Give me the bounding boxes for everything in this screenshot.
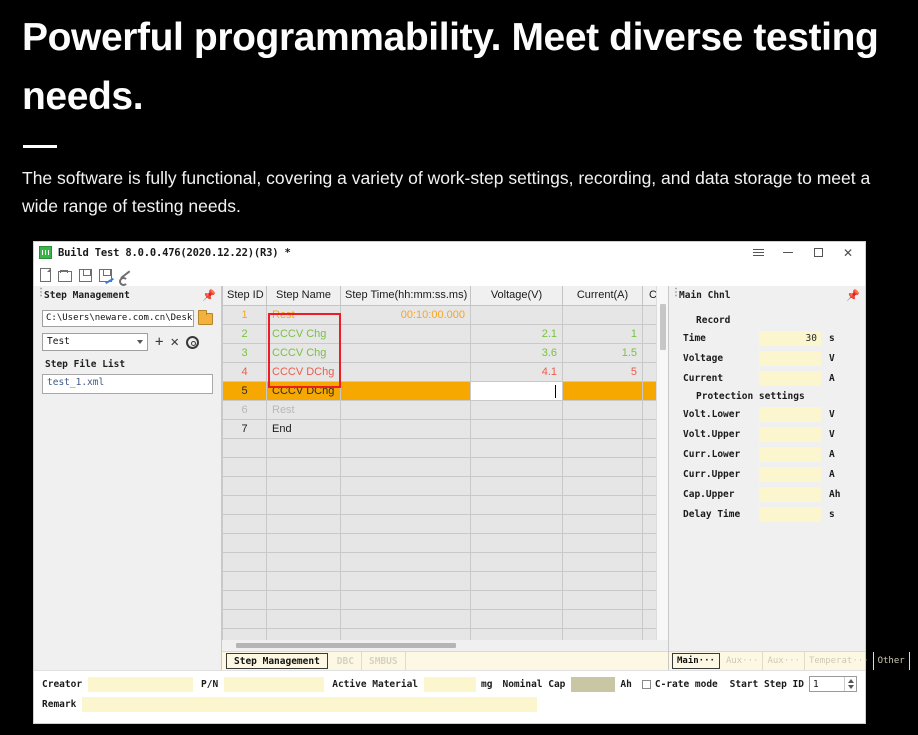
cell-current[interactable] [563,305,643,324]
left-panel-header: Step Management 📌 [34,286,221,304]
step-file-list-label: Step File List [45,359,213,370]
profile-row: Test + ✕ [42,333,213,351]
start-step-group: Start Step ID 1 [730,676,857,692]
field-unit-delay-time: s [821,509,841,520]
right-panel-title: Main Chnl [679,290,730,301]
scrollbar-thumb[interactable] [236,643,456,648]
left-panel-body: C:\Users\neware.com.cn\Desktop\ Test + ✕… [34,304,221,670]
cell-empty[interactable] [223,590,267,609]
remove-profile-button[interactable]: ✕ [170,335,178,349]
table-row[interactable]: 3CCCV Chg3.61.5 [223,343,657,362]
cell-empty[interactable] [643,590,657,609]
field-input-time[interactable]: 30 [759,331,821,346]
cell-current[interactable]: 1.5 [563,343,643,362]
table-row-empty[interactable] [223,476,657,495]
cell-empty[interactable] [223,628,267,640]
table-row[interactable]: 7End [223,419,657,438]
cell-empty[interactable] [341,590,471,609]
cell-empty[interactable] [563,457,643,476]
hero-section: Powerful programmability. Meet diverse t… [0,0,918,220]
cell-empty[interactable] [341,495,471,514]
cell-empty[interactable] [471,628,563,640]
cell-empty[interactable] [223,571,267,590]
cell-step-name[interactable]: Rest [267,305,341,324]
profile-select[interactable]: Test [42,333,148,351]
open-folder-icon[interactable] [58,271,72,282]
cell-cut[interactable] [643,400,657,419]
cell-step-name[interactable]: Rest [267,400,341,419]
cell-empty[interactable] [341,552,471,571]
cell-empty[interactable] [267,438,341,457]
pn-field[interactable] [224,677,324,692]
cell-empty[interactable] [563,571,643,590]
cell-step-time[interactable] [341,400,471,419]
cell-step-id[interactable]: 7 [223,419,267,438]
field-unit-voltage: V [821,353,841,364]
table-row-empty[interactable] [223,438,657,457]
column-header-step-time[interactable]: Step Time(hh:mm:ss.ms) [341,286,471,305]
active-material-label: Active Material [332,679,418,690]
cell-empty[interactable] [223,514,267,533]
pin-icon[interactable]: 📌 [202,289,216,302]
cell-step-id[interactable]: 5 [223,381,267,400]
tab-smbus[interactable]: SMBUS [362,652,406,670]
cell-empty[interactable] [563,533,643,552]
tab-channel-0[interactable]: Main··· [672,653,720,669]
cell-cut[interactable] [643,324,657,343]
cell-empty[interactable] [471,495,563,514]
cell-step-name[interactable]: CCCV Chg [267,324,341,343]
cell-empty[interactable] [223,552,267,571]
cell-empty[interactable] [223,457,267,476]
cell-empty[interactable] [341,628,471,640]
cell-cut[interactable] [643,419,657,438]
crate-mode-label: C-rate mode [655,679,718,690]
cell-step-time[interactable] [341,381,471,400]
cell-empty[interactable] [563,590,643,609]
cell-empty[interactable] [341,457,471,476]
cell-empty[interactable] [643,495,657,514]
cell-empty[interactable] [471,476,563,495]
table-row-empty[interactable] [223,533,657,552]
table-row-empty[interactable] [223,609,657,628]
cell-cut[interactable] [643,381,657,400]
cell-empty[interactable] [267,457,341,476]
chevron-up-icon[interactable] [848,679,854,683]
table-row-empty[interactable] [223,514,657,533]
field-label-voltage: Voltage [683,353,759,364]
field-input-cap-upper[interactable] [759,487,821,502]
table-row[interactable]: 5CCCV DChg [223,381,657,400]
field-input-current[interactable] [759,371,821,386]
field-label-volt-lower: Volt.Lower [683,409,759,420]
cell-empty[interactable] [643,552,657,571]
menu-icon[interactable] [743,243,773,263]
cell-empty[interactable] [267,533,341,552]
cell-step-time[interactable] [341,324,471,343]
cell-voltage[interactable]: 3.6 [471,343,563,362]
cell-empty[interactable] [341,533,471,552]
cell-voltage[interactable] [471,305,563,324]
checkbox-box[interactable] [642,680,651,689]
cell-empty[interactable] [471,552,563,571]
table-row-empty[interactable] [223,628,657,640]
new-file-icon[interactable] [40,268,51,282]
field-row: VoltageV [683,351,857,366]
field-row: Cap.UpperAh [683,487,857,502]
center-tab-bar: Step ManagementDBCSMBUS [222,651,668,670]
field-label-time: Time [683,333,759,344]
tab-channel-2[interactable]: Aux··· [763,652,805,670]
pn-label: P/N [201,679,218,690]
field-unit-time: s [821,333,841,344]
cell-empty[interactable] [471,571,563,590]
cell-step-id[interactable]: 1 [223,305,267,324]
path-row: C:\Users\neware.com.cn\Desktop\ [42,310,213,327]
step-grid[interactable]: Step ID Step Name Step Time(hh:mm:ss.ms)… [222,286,656,640]
step-file-list[interactable]: test_1.xml [42,374,213,394]
field-input-volt-lower[interactable] [759,407,821,422]
stepper-arrows[interactable] [844,677,856,691]
save-as-icon[interactable] [99,269,112,282]
field-unit-current: A [821,373,841,384]
cell-current[interactable] [563,400,643,419]
column-header-cut[interactable]: Cut [643,286,657,305]
cell-current[interactable] [563,419,643,438]
toolbar [34,264,865,286]
creator-label: Creator [42,679,82,690]
title-bar: Build Test 8.0.0.476(2020.12.22)(R3) * ✕ [34,242,865,264]
nominal-cap-label: Nominal Cap [502,679,565,690]
right-panel-header: Main Chnl 📌 [669,286,865,304]
cell-empty[interactable] [223,533,267,552]
column-header-step-name[interactable]: Step Name [267,286,341,305]
crate-mode-checkbox[interactable]: C-rate mode [642,679,718,690]
group-label-protection-settings: Protection settings [696,391,857,402]
table-row[interactable]: 1Rest00:10:00.000 [223,305,657,324]
footer-row-2: Remark [42,697,857,712]
cell-empty[interactable] [471,438,563,457]
active-material-field[interactable] [424,677,476,692]
cell-empty[interactable] [643,514,657,533]
tools-wrench-icon[interactable] [119,268,133,282]
start-step-stepper[interactable]: 1 [809,676,857,692]
cell-empty[interactable] [267,495,341,514]
field-row: Time30s [683,331,857,346]
maximize-icon[interactable] [803,243,833,263]
cell-empty[interactable] [563,552,643,571]
cell-empty[interactable] [643,533,657,552]
field-label-delay-time: Delay Time [683,509,759,520]
cell-step-time[interactable] [341,419,471,438]
table-wrapper: Step ID Step Name Step Time(hh:mm:ss.ms)… [222,286,668,640]
footer-row-1: Creator P/N Active Material mg Nominal C… [42,676,857,692]
cell-voltage[interactable] [471,400,563,419]
field-unit-curr-lower: A [821,449,841,460]
table-row[interactable]: 4CCCV DChg4.15 [223,362,657,381]
steps-table-body: 1Rest00:10:00.0002CCCV Chg2.113CCCV Chg3… [223,305,657,640]
cell-empty[interactable] [643,457,657,476]
cell-current[interactable]: 5 [563,362,643,381]
cell-empty[interactable] [341,514,471,533]
cell-step-time[interactable]: 00:10:00.000 [341,305,471,324]
grid-horizontal-scrollbar[interactable] [222,640,668,651]
cell-cut[interactable] [643,305,657,324]
tab-step-management[interactable]: Step Management [226,653,328,669]
cell-empty[interactable] [223,438,267,457]
remark-field[interactable] [82,697,537,712]
cell-empty[interactable] [563,438,643,457]
steps-table: Step ID Step Name Step Time(hh:mm:ss.ms)… [222,286,656,640]
table-header-row: Step ID Step Name Step Time(hh:mm:ss.ms)… [223,286,657,305]
cell-empty[interactable] [267,552,341,571]
field-label-curr-lower: Curr.Lower [683,449,759,460]
cell-empty[interactable] [267,476,341,495]
cell-empty[interactable] [471,457,563,476]
chevron-down-icon [137,340,143,344]
cell-empty[interactable] [267,571,341,590]
field-row: CurrentA [683,371,857,386]
tab-channel-1[interactable]: Aux··· [722,652,764,670]
application-window: Build Test 8.0.0.476(2020.12.22)(R3) * ✕… [33,241,866,724]
cell-step-id[interactable]: 2 [223,324,267,343]
left-panel-title: Step Management [44,290,130,301]
cell-empty[interactable] [643,476,657,495]
window-body: Step Management 📌 C:\Users\neware.com.cn… [34,286,865,670]
cell-empty[interactable] [267,514,341,533]
table-row-empty[interactable] [223,571,657,590]
footer-bar: Creator P/N Active Material mg Nominal C… [34,670,865,723]
field-row: Volt.UpperV [683,427,857,442]
step-table-area: Step ID Step Name Step Time(hh:mm:ss.ms)… [222,286,669,670]
column-header-step-id[interactable]: Step ID [223,286,267,305]
cell-voltage[interactable] [471,381,563,400]
cell-voltage[interactable]: 4.1 [471,362,563,381]
tab-channel-4[interactable]: Other [874,652,910,670]
cell-step-name[interactable]: CCCV Chg [267,343,341,362]
pin-icon[interactable]: 📌 [846,289,860,302]
field-input-voltage[interactable] [759,351,821,366]
cell-step-name[interactable]: CCCV DChg [267,362,341,381]
field-input-volt-upper[interactable] [759,427,821,442]
folder-open-icon[interactable] [198,313,213,325]
cell-empty[interactable] [223,609,267,628]
field-unit-volt-lower: V [821,409,841,420]
path-input[interactable]: C:\Users\neware.com.cn\Desktop\ [42,310,194,327]
start-step-label: Start Step ID [730,679,804,690]
cell-empty[interactable] [267,628,341,640]
field-input-curr-lower[interactable] [759,447,821,462]
field-input-curr-upper[interactable] [759,467,821,482]
cell-empty[interactable] [341,438,471,457]
field-label-curr-upper: Curr.Upper [683,469,759,480]
tab-channel-3[interactable]: Temperat··· [805,652,874,670]
cell-empty[interactable] [563,609,643,628]
field-label-cap-upper: Cap.Upper [683,489,759,500]
creator-field[interactable] [88,677,193,692]
cell-empty[interactable] [643,609,657,628]
cell-step-id[interactable]: 4 [223,362,267,381]
field-unit-cap-upper: Ah [821,489,841,500]
cell-empty[interactable] [267,609,341,628]
cell-empty[interactable] [267,590,341,609]
cell-step-id[interactable]: 3 [223,343,267,362]
cell-cut[interactable] [643,362,657,381]
add-profile-button[interactable]: + [155,335,163,349]
gear-icon[interactable] [186,336,199,349]
field-input-delay-time[interactable] [759,507,821,522]
cell-empty[interactable] [643,571,657,590]
cell-empty[interactable] [563,628,643,640]
list-item[interactable]: test_1.xml [47,377,208,388]
cell-empty[interactable] [563,495,643,514]
cell-empty[interactable] [471,590,563,609]
active-material-unit: mg [481,679,492,690]
window-controls: ✕ [743,243,863,263]
cell-empty[interactable] [223,495,267,514]
cell-empty[interactable] [223,476,267,495]
step-management-panel: Step Management 📌 C:\Users\neware.com.cn… [34,286,222,670]
title-divider [23,145,57,148]
neware-app-icon [39,246,52,259]
column-header-voltage[interactable]: Voltage(V) [471,286,563,305]
cell-step-name[interactable]: End [267,419,341,438]
cell-current[interactable]: 1 [563,324,643,343]
field-label-volt-upper: Volt.Upper [683,429,759,440]
field-row: Curr.LowerA [683,447,857,462]
start-step-value[interactable]: 1 [810,679,844,690]
table-row-empty[interactable] [223,590,657,609]
tab-dbc[interactable]: DBC [330,652,362,670]
group-label-record: Record [696,315,857,326]
nominal-cap-unit: Ah [620,679,631,690]
field-label-current: Current [683,373,759,384]
cell-empty[interactable] [471,533,563,552]
remark-label: Remark [42,699,76,710]
cell-empty[interactable] [471,514,563,533]
cell-empty[interactable] [341,476,471,495]
column-header-current[interactable]: Current(A) [563,286,643,305]
right-tab-bar: Main···Aux···Aux···Temperat···Other [669,651,865,670]
save-icon[interactable] [79,269,92,282]
minimize-icon[interactable] [773,243,803,263]
page-title: Powerful programmability. Meet diverse t… [22,8,896,127]
table-row[interactable]: 2CCCV Chg2.11 [223,324,657,343]
right-panel-body: RecordTime30sVoltageVCurrentAProtection … [669,304,865,651]
cell-step-id[interactable]: 6 [223,400,267,419]
table-row-empty[interactable] [223,552,657,571]
field-row: Volt.LowerV [683,407,857,422]
scrollbar-thumb[interactable] [660,304,666,350]
grid-vertical-scrollbar[interactable] [656,286,668,640]
cell-empty[interactable] [341,571,471,590]
profile-select-value: Test [47,336,70,347]
close-icon[interactable]: ✕ [833,243,863,263]
cell-step-time[interactable] [341,362,471,381]
chevron-down-icon[interactable] [848,685,854,689]
cell-step-time[interactable] [341,343,471,362]
cell-empty[interactable] [471,609,563,628]
cell-empty[interactable] [643,438,657,457]
field-unit-volt-upper: V [821,429,841,440]
window-title: Build Test 8.0.0.476(2020.12.22)(R3) * [58,247,291,259]
cell-empty[interactable] [563,514,643,533]
cell-empty[interactable] [341,609,471,628]
table-row-empty[interactable] [223,457,657,476]
cell-current[interactable] [563,381,643,400]
hero-subtitle: The software is fully functional, coveri… [22,164,896,221]
table-row[interactable]: 6Rest [223,400,657,419]
cell-cut[interactable] [643,343,657,362]
field-unit-curr-upper: A [821,469,841,480]
cell-voltage[interactable]: 2.1 [471,324,563,343]
table-row-empty[interactable] [223,495,657,514]
cell-empty[interactable] [643,628,657,640]
field-row: Curr.UpperA [683,467,857,482]
nominal-cap-field[interactable] [571,677,615,692]
cell-empty[interactable] [563,476,643,495]
cell-step-name[interactable]: CCCV DChg [267,381,341,400]
cell-voltage[interactable] [471,419,563,438]
field-row: Delay Times [683,507,857,522]
main-channel-panel: Main Chnl 📌 RecordTime30sVoltageVCurrent… [669,286,865,670]
